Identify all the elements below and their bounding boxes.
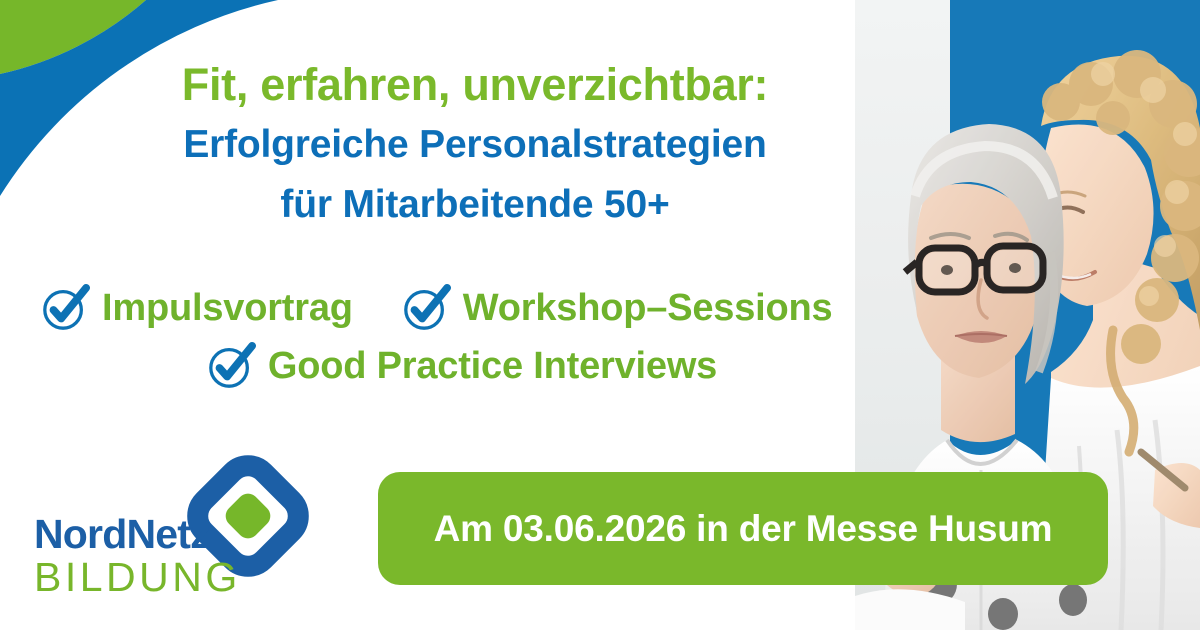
logo-wordmark: NordNetz BILDUNG [34,514,241,598]
bullet-label: Good Practice Interviews [268,347,717,385]
bullet-good-practice-interviews: Good Practice Interviews [206,341,717,391]
bullet-workshop-sessions: Workshop–Sessions [401,283,833,333]
bullet-label: Workshop–Sessions [463,289,833,327]
logo-word-bildung: BILDUNG [34,557,241,598]
bullet-row-2: Good Practice Interviews [30,341,875,391]
check-circle-icon [206,341,256,391]
bullet-row-1: Impulsvortrag Workshop–Sessions [30,283,875,333]
date-location-text: Am 03.06.2026 in der Messe Husum [434,508,1053,550]
nordnetz-bildung-logo[interactable]: NordNetz BILDUNG [34,452,324,602]
bullet-impulsvortrag: Impulsvortrag [40,283,353,333]
headline-line-2: Erfolgreiche Personalstrategien [60,119,890,171]
headline-block: Fit, erfahren, unverzichtbar: Erfolgreic… [60,58,890,231]
headline-line-3: für Mitarbeitende 50+ [60,179,890,231]
feature-bullets: Impulsvortrag Workshop–Sessions Good Pra… [30,283,875,399]
check-circle-icon [40,283,90,333]
date-location-banner: Am 03.06.2026 in der Messe Husum [378,472,1108,585]
check-circle-icon [401,283,451,333]
bullet-label: Impulsvortrag [102,289,353,327]
logo-word-nordnetz: NordNetz [34,514,241,555]
headline-line-1: Fit, erfahren, unverzichtbar: [60,58,890,111]
event-promo-banner: Fit, erfahren, unverzichtbar: Erfolgreic… [0,0,1200,630]
